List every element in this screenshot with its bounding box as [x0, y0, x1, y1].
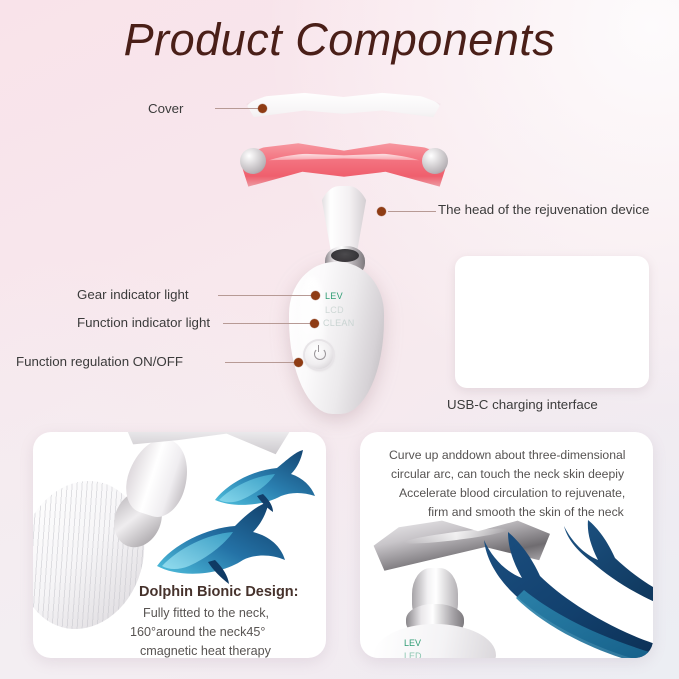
callout-dot-head	[377, 207, 386, 216]
device-lev-text: LEV	[325, 291, 343, 301]
callout-dot-cover	[258, 104, 267, 113]
callout-label-cover: Cover	[148, 101, 183, 116]
product-head-tip-right	[422, 148, 448, 174]
infographic-canvas: Product Components LEV LCD CLEAN Cover T…	[0, 0, 679, 679]
callout-dot-gear-indicator	[311, 291, 320, 300]
callout-leader-head	[388, 211, 436, 212]
device-lcd-text: LCD	[325, 305, 344, 315]
callout-leader-function-indicator	[223, 323, 310, 324]
callout-leader-onoff	[225, 362, 295, 363]
neck-card-line-2: circular arc, can touch the neck skin de…	[391, 467, 624, 481]
callout-label-head: The head of the rejuvenation device	[438, 202, 649, 217]
callout-label-gear-indicator: Gear indicator light	[77, 287, 189, 302]
usb-card-caption: USB-C charging interface	[447, 397, 598, 412]
card-right-lev-text: LEV	[404, 638, 421, 648]
dolphin-card-line-1: Fully fitted to the neck,	[143, 606, 269, 620]
neck-curve-card: Curve up anddown about three-dimensional…	[360, 432, 653, 658]
product-cover	[246, 92, 441, 134]
usb-charging-card	[455, 256, 649, 388]
product-head-tip-left	[240, 148, 266, 174]
page-title: Product Components	[0, 14, 679, 66]
device-clean-text: CLEAN	[323, 318, 355, 328]
product-neck-socket	[331, 249, 359, 262]
callout-dot-onoff	[294, 358, 303, 367]
neck-card-line-1: Curve up anddown about three-dimensional	[389, 448, 625, 462]
whale-tail-icon-small	[560, 516, 653, 608]
neck-card-line-3: Accelerate blood circulation to rejuvena…	[399, 486, 625, 500]
card-right-led-text: LED	[404, 651, 422, 658]
callout-dot-function-indicator	[310, 319, 319, 328]
whale-icon-lower	[153, 500, 289, 592]
callout-label-onoff: Function regulation ON/OFF	[16, 354, 183, 369]
dolphin-bionic-card: Dolphin Bionic Design: Fully fitted to t…	[33, 432, 326, 658]
callout-leader-gear-indicator	[218, 295, 311, 296]
dolphin-card-heading: Dolphin Bionic Design:	[139, 584, 299, 600]
power-icon-bar	[318, 345, 319, 352]
callout-label-function-indicator: Function indicator light	[77, 315, 210, 330]
dolphin-card-line-3: cmagnetic heat therapy	[140, 644, 271, 658]
dolphin-card-line-2: 160°around the neck45°	[130, 625, 265, 639]
